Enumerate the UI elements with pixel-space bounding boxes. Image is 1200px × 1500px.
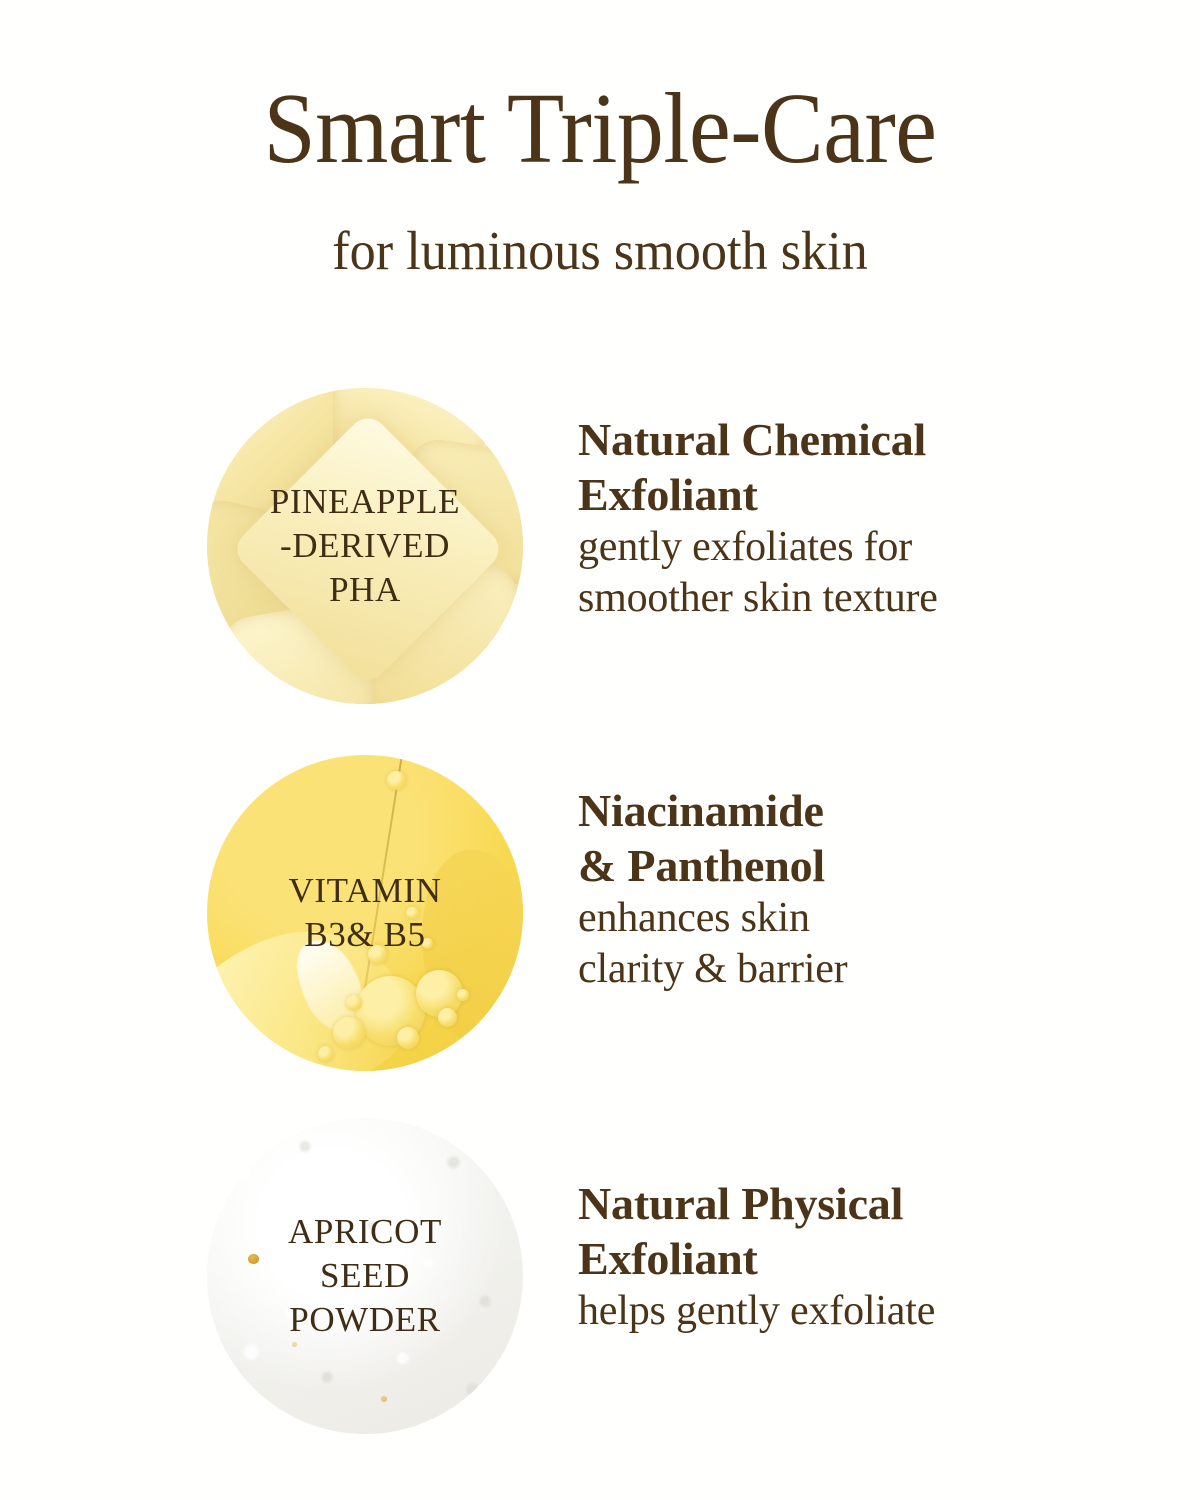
- page-title: Smart Triple-Care: [42, 78, 1158, 179]
- benefit-row: APRICOT SEED POWDER Natural Physical Exf…: [0, 1118, 1200, 1483]
- benefit-description-line: clarity & barrier: [578, 944, 1108, 994]
- pineapple-pha-circle: PINEAPPLE -DERIVED PHA: [207, 388, 523, 704]
- benefit-row: PINEAPPLE -DERIVED PHA Natural Chemical …: [0, 388, 1200, 753]
- benefit-description-line: enhances skin: [578, 893, 1108, 943]
- benefit-description: enhances skin clarity & barrier: [578, 893, 1108, 994]
- benefit-heading-line: & Panthenol: [578, 838, 1108, 893]
- apricot-seed-powder-circle: APRICOT SEED POWDER: [207, 1118, 523, 1434]
- benefit-text: Natural Physical Exfoliant helps gently …: [578, 1176, 1108, 1337]
- circle-label: APRICOT SEED POWDER: [207, 1118, 523, 1434]
- circle-label: PINEAPPLE -DERIVED PHA: [207, 388, 523, 704]
- benefit-heading-line: Natural Chemical: [578, 412, 1108, 467]
- benefit-description-line: helps gently exfoliate: [578, 1286, 1108, 1336]
- benefit-text: Niacinamide & Panthenol enhances skin cl…: [578, 783, 1108, 994]
- benefit-heading: Niacinamide & Panthenol: [578, 783, 1108, 893]
- vitamin-b3-b5-circle: VITAMIN B3& B5: [207, 755, 523, 1071]
- circle-label-line: POWDER: [289, 1298, 440, 1342]
- circle-label-line: -DERIVED: [280, 524, 450, 568]
- circle-label-line: APRICOT: [288, 1210, 442, 1254]
- benefit-heading-line: Exfoliant: [578, 467, 1108, 522]
- circle-label-line: SEED: [320, 1254, 410, 1298]
- circle-label-line: PHA: [329, 568, 401, 612]
- benefit-description: gently exfoliates for smoother skin text…: [578, 522, 1108, 623]
- benefit-description-line: smoother skin texture: [578, 573, 1108, 623]
- benefit-description-line: gently exfoliates for: [578, 522, 1108, 572]
- page-subtitle: for luminous smooth skin: [30, 223, 1170, 278]
- infographic-header: Smart Triple-Care for luminous smooth sk…: [0, 0, 1200, 278]
- benefit-heading-line: Natural Physical: [578, 1176, 1108, 1231]
- benefit-heading: Natural Chemical Exfoliant: [578, 412, 1108, 522]
- circle-label-line: B3& B5: [304, 913, 425, 957]
- circle-label-line: VITAMIN: [288, 869, 441, 913]
- circle-label-line: PINEAPPLE: [270, 480, 460, 524]
- benefit-text: Natural Chemical Exfoliant gently exfoli…: [578, 412, 1108, 623]
- benefit-row: VITAMIN B3& B5 Niacinamide & Panthenol e…: [0, 755, 1200, 1120]
- benefit-description: helps gently exfoliate: [578, 1286, 1108, 1336]
- circle-label: VITAMIN B3& B5: [207, 755, 523, 1071]
- benefit-heading-line: Niacinamide: [578, 783, 1108, 838]
- benefit-heading-line: Exfoliant: [578, 1231, 1108, 1286]
- benefit-heading: Natural Physical Exfoliant: [578, 1176, 1108, 1286]
